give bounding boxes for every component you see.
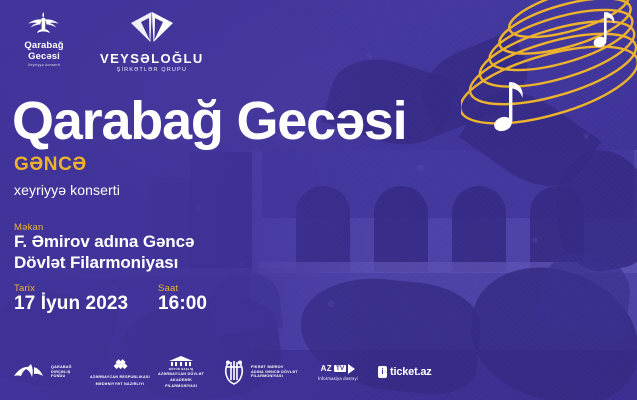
music-note-icon: [492, 82, 522, 133]
iticket-brand: ticket.az: [390, 366, 432, 378]
sponsor-phil-line1: AZƏRBAYCAN DÖVLƏT: [158, 372, 204, 377]
music-staff-swirl-icon: [461, 0, 637, 160]
sponsor-phil-top: BÖYÜK BAŞLIQ: [169, 368, 194, 372]
event-subtitle: xeyriyyə konserti: [14, 182, 120, 198]
aztv-brand2: TV: [334, 365, 346, 372]
logo-veyseloglu-name: VEYSƏLOĞLU: [100, 51, 204, 66]
logo-qarabag-tagline: Xeyriyyə konserti: [14, 63, 74, 67]
qarabag-horse-emblem-icon: [24, 10, 64, 40]
iticket-mark-icon: i: [378, 366, 387, 378]
venue-name: F. Əmirov adına Gəncə Dövlət Filarmoniya…: [14, 232, 194, 273]
logo-qarabag-gecesi: Qarabağ Gecəsi Xeyriyyə konserti: [14, 10, 74, 67]
city-label: GƏNCƏ: [14, 154, 87, 176]
sponsor-medeniyyet-nazirliyi: Azərbaycan Respublikası Mədəniyyət Nazir…: [90, 357, 150, 386]
time-value: 16:00: [158, 293, 207, 315]
sponsor-phil-line2: AKADEMİK: [170, 378, 192, 383]
play-triangle-icon: [348, 364, 355, 374]
sponsor-ministry-line2: Mədəniyyət Nazirliyi: [96, 382, 145, 387]
event-poster: Qarabağ Gecəsi Xeyriyyə konserti VEYSƏLO…: [0, 0, 637, 400]
sponsor-gence-line3: FİLARMONİYASI: [251, 374, 298, 379]
sponsor-ministry-line1: Azərbaycan Respublikası: [90, 375, 150, 380]
veyseloglu-diamond-icon: [129, 10, 175, 44]
sponsor-strip: Qarabağ Dirçəliş Fondu Azərbaycan Respub…: [0, 350, 637, 394]
sponsor-gence-text-block: FİKRƏT ƏMİROV ADINA GƏNCƏ DÖVLƏT FİLARMO…: [251, 365, 298, 379]
page-title: Qarabağ Gecəsi: [12, 94, 406, 148]
sponsor-gence-dovlet-filarmoniyasi: FİKRƏT ƏMİROV ADINA GƏNCƏ DÖVLƏT FİLARMO…: [222, 358, 298, 386]
lyre-icon: [222, 358, 246, 386]
aztv-logo-icon: AZ TV: [321, 364, 356, 374]
karabakh-revival-fund-icon: [12, 360, 46, 384]
philharmonic-building-icon: [166, 356, 196, 367]
sponsor-azerbaycan-dovlet-filarmoniyasi: BÖYÜK BAŞLIQ AZƏRBAYCAN DÖVLƏT AKADEMİK …: [158, 356, 204, 389]
sponsor-qarabag-text: Qarabağ Dirçəliş Fondu: [51, 365, 72, 379]
sponsor-aztv: AZ TV İnformasiya dəstəyi: [318, 364, 358, 381]
ministry-of-culture-icon: [109, 357, 131, 373]
venue-line-1: F. Əmirov adına Gəncə: [14, 232, 194, 253]
logo-veyseloglu-tagline: ŞİRKƏTLƏR QRUPU: [100, 67, 204, 73]
sponsor-qarabag-dircelis-fondu: Qarabağ Dirçəliş Fondu: [12, 360, 72, 384]
aztv-caption: İnformasiya dəstəyi: [318, 376, 358, 381]
logo-qarabag-line1: Qarabağ: [14, 41, 74, 51]
logo-qarabag-line2: Gecəsi: [14, 52, 74, 62]
aztv-brand: AZ: [321, 364, 332, 373]
sponsor-iticket[interactable]: i ticket.az: [378, 366, 432, 378]
sponsor-phil-line3: FİLARMONİYASI: [165, 384, 197, 389]
venue-line-2: Dövlət Filarmoniyası: [14, 253, 194, 274]
date-value: 17 İyun 2023: [14, 293, 128, 315]
header-logo-group: Qarabağ Gecəsi Xeyriyyə konserti VEYSƏLO…: [14, 10, 204, 73]
logo-veyseloglu: VEYSƏLOĞLU ŞİRKƏTLƏR QRUPU: [100, 10, 204, 73]
